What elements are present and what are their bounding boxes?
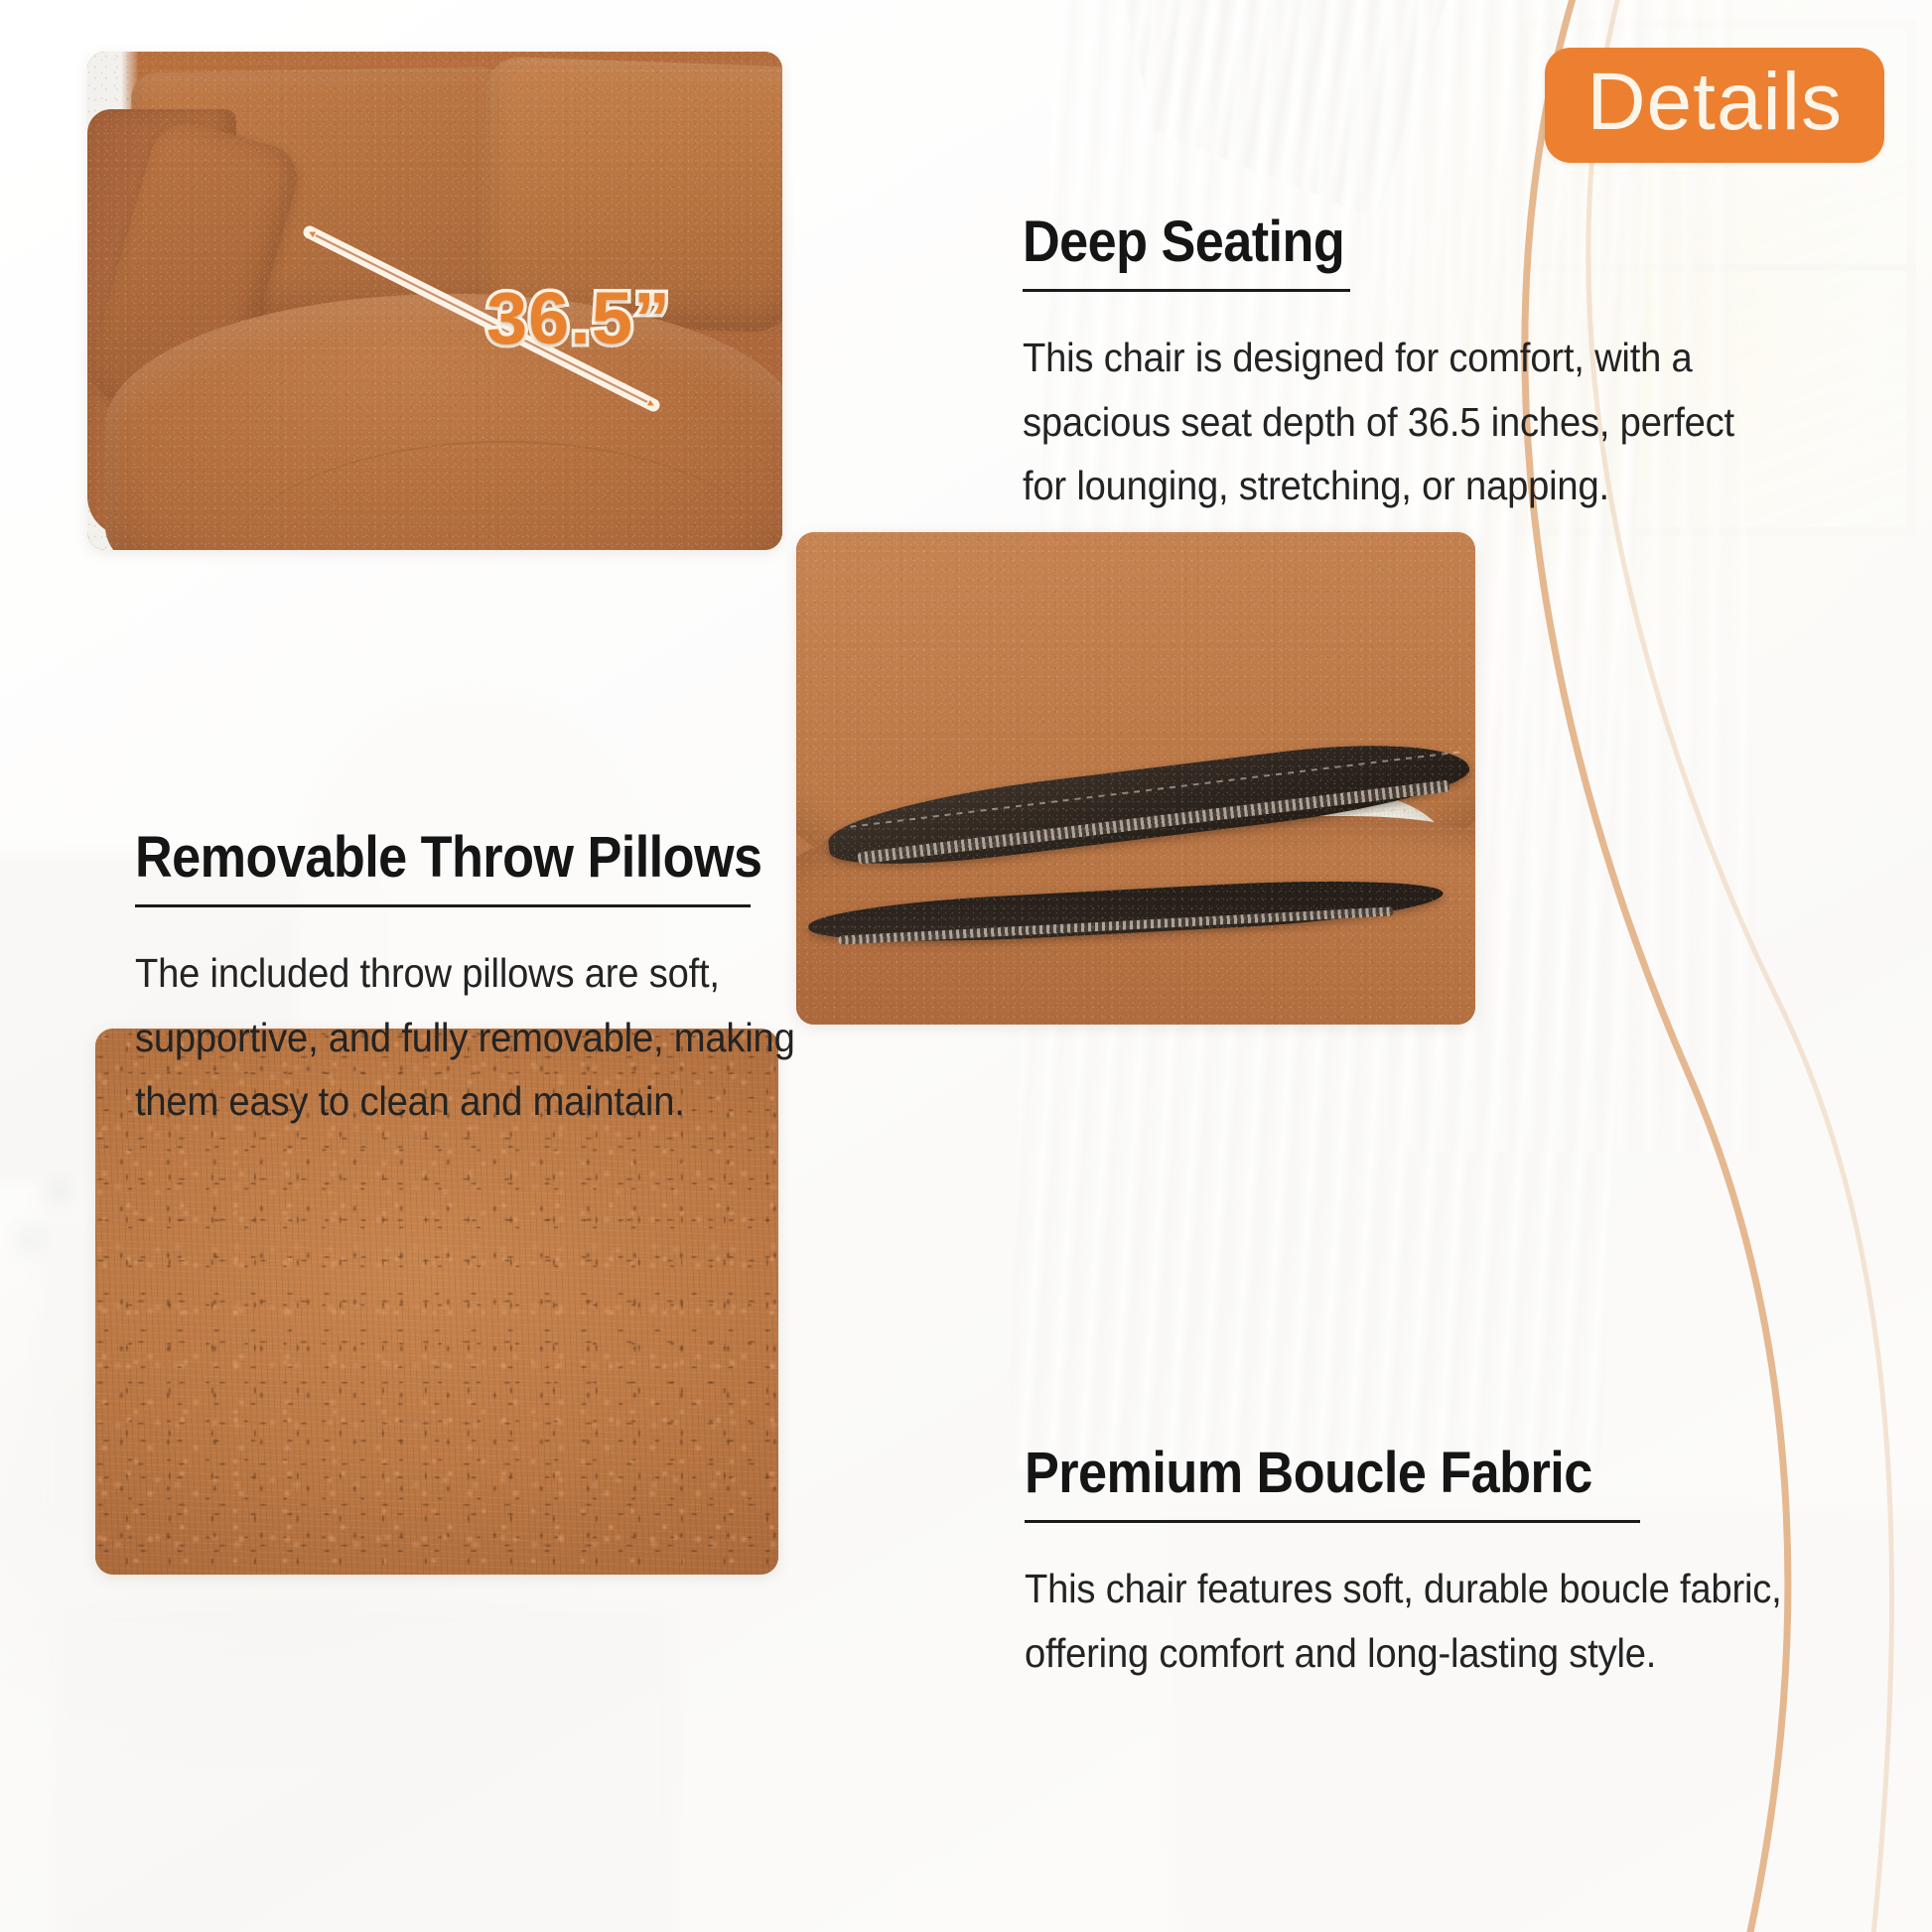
seat-depth-arrow-icon bbox=[87, 52, 782, 550]
cushion-zipper-photo bbox=[796, 532, 1475, 1025]
seat-depth-label: 36.5” bbox=[486, 276, 671, 360]
product-details-page: Details bbox=[0, 0, 1932, 1932]
feature-body: This chair features soft, durable boucle… bbox=[1025, 1557, 1791, 1686]
feature-title: Deep Seating bbox=[1023, 210, 1755, 275]
feature-divider bbox=[135, 904, 751, 907]
feature-body: This chair is designed for comfort, with… bbox=[1023, 326, 1780, 518]
feature-premium-boucle-fabric: Premium Boucle Fabric This chair feature… bbox=[1025, 1442, 1849, 1685]
feature-removable-throw-pillows: Removable Throw Pillows The included thr… bbox=[135, 826, 890, 1134]
feature-title: Premium Boucle Fabric bbox=[1025, 1442, 1766, 1506]
feature-body: The included throw pillows are soft, sup… bbox=[135, 941, 837, 1134]
details-badge: Details bbox=[1545, 48, 1884, 163]
feature-deep-seating: Deep Seating This chair is designed for … bbox=[1023, 210, 1837, 518]
feature-divider bbox=[1025, 1520, 1640, 1523]
zipper-scene bbox=[796, 532, 1475, 1025]
feature-title: Removable Throw Pillows bbox=[135, 826, 814, 891]
chair-seat-depth-photo: 36.5” bbox=[87, 52, 782, 550]
feature-divider bbox=[1023, 289, 1350, 292]
